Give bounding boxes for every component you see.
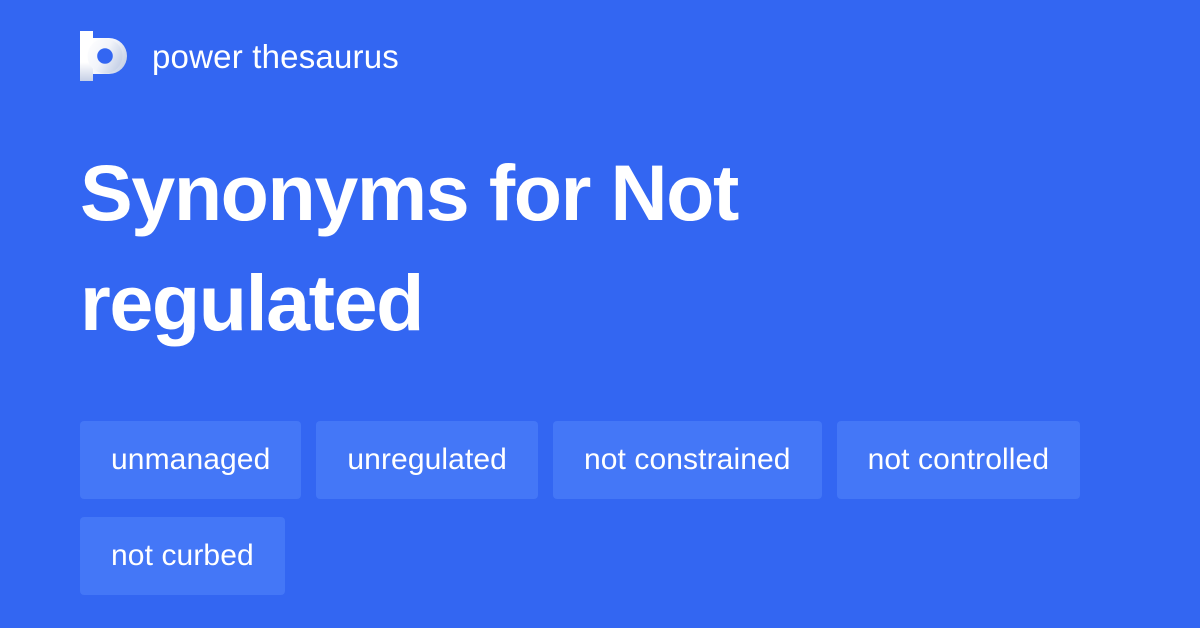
brand-name: power thesaurus (152, 40, 399, 73)
synonym-chip-list: unmanaged unregulated not constrained no… (80, 421, 1140, 595)
page-title: Synonyms for Not regulated (80, 138, 1080, 358)
synonym-chip[interactable]: not constrained (553, 421, 822, 499)
synonym-chip[interactable]: not curbed (80, 517, 285, 595)
share-card: power thesaurus Synonyms for Not regulat… (0, 0, 1200, 628)
synonym-chip[interactable]: unmanaged (80, 421, 301, 499)
brand-header[interactable]: power thesaurus (80, 30, 399, 82)
synonym-chip[interactable]: not controlled (837, 421, 1081, 499)
synonym-chip[interactable]: unregulated (316, 421, 538, 499)
power-thesaurus-b-logo-icon (80, 31, 128, 81)
